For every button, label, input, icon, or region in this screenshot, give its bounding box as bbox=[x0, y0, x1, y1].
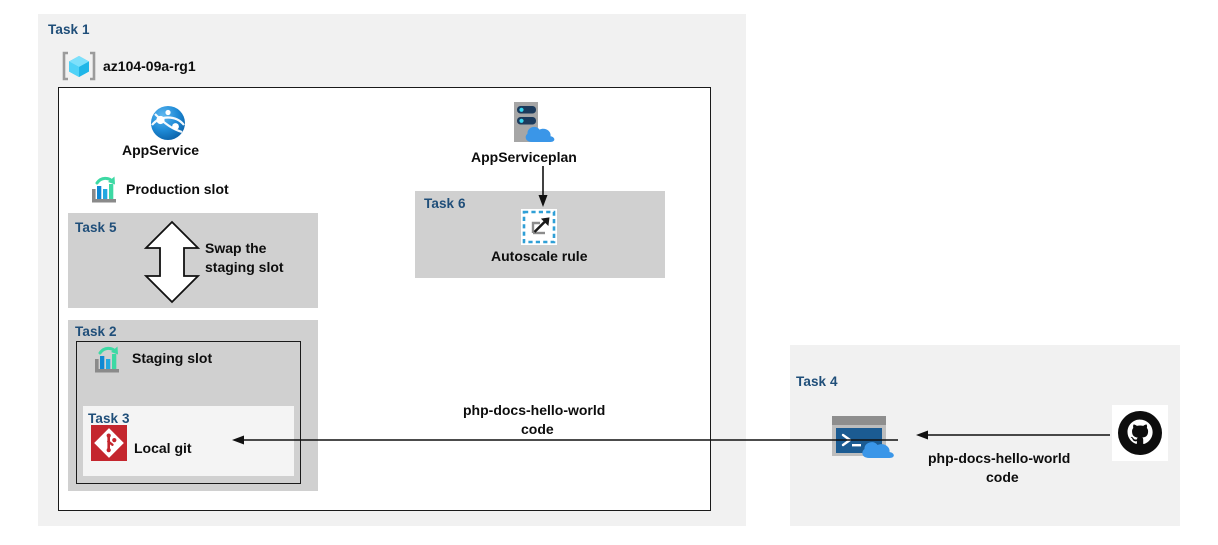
deployment-slot-icon-staging bbox=[91, 345, 123, 375]
production-slot-label: Production slot bbox=[126, 181, 229, 197]
deployment-slot-icon-production bbox=[88, 175, 120, 205]
task4-arrow-label-line1: php-docs-hello-world bbox=[928, 450, 1070, 466]
autoscale-rule-label: Autoscale rule bbox=[491, 248, 587, 264]
swap-double-arrow-icon bbox=[143, 220, 201, 304]
autoscale-icon bbox=[521, 209, 557, 245]
appserviceplan-label: AppServiceplan bbox=[471, 149, 577, 165]
task3-label: Task 3 bbox=[88, 411, 130, 426]
task4-arrow-label-line2: code bbox=[986, 469, 1019, 485]
task6-label: Task 6 bbox=[424, 196, 466, 211]
local-git-label: Local git bbox=[134, 440, 192, 456]
task4-label: Task 4 bbox=[796, 374, 838, 389]
github-icon bbox=[1112, 405, 1168, 461]
app-service-plan-icon bbox=[508, 99, 560, 149]
resource-group-name: az104-09a-rg1 bbox=[103, 58, 196, 74]
appservice-label: AppService bbox=[122, 142, 199, 158]
task5-caption-line2: staging slot bbox=[205, 259, 284, 277]
resource-group-icon bbox=[62, 49, 96, 83]
task2-label: Task 2 bbox=[75, 324, 117, 339]
git-icon bbox=[91, 425, 127, 461]
cloud-shell-icon bbox=[830, 414, 902, 460]
task1-label: Task 1 bbox=[48, 22, 90, 37]
center-arrow-label-line1: php-docs-hello-world bbox=[463, 402, 605, 418]
center-arrow-label-line2: code bbox=[521, 421, 554, 437]
app-service-icon bbox=[148, 103, 188, 143]
task5-label: Task 5 bbox=[75, 220, 117, 235]
task5-caption-line1: Swap the bbox=[205, 240, 266, 258]
staging-slot-label: Staging slot bbox=[132, 350, 212, 366]
